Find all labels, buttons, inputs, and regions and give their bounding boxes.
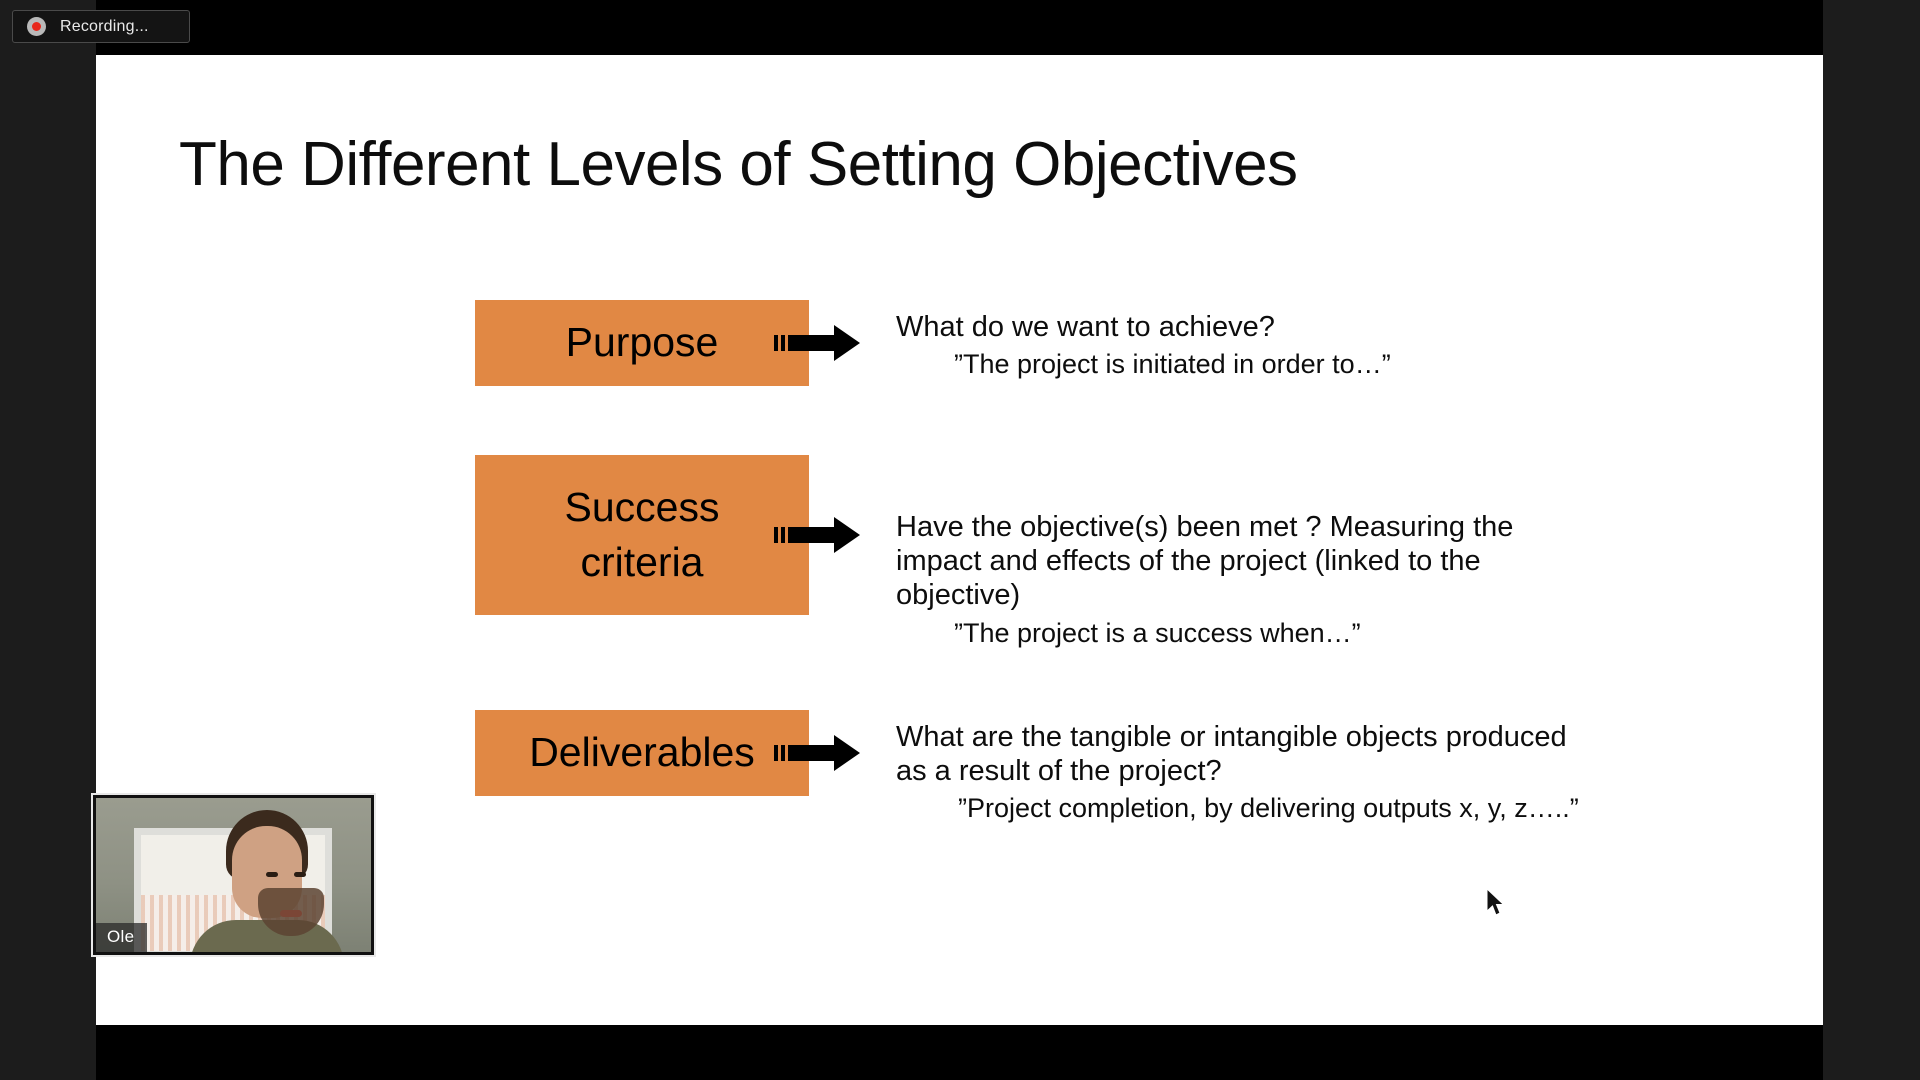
label-box-deliverables-text: Deliverables bbox=[529, 725, 755, 780]
description-success-criteria-quote: ”The project is a success when…” bbox=[896, 617, 1596, 649]
desktop-top-bar bbox=[0, 0, 1920, 55]
description-deliverables: What are the tangible or intangible obje… bbox=[896, 720, 1596, 825]
desktop-backdrop-right bbox=[1823, 0, 1920, 1080]
description-deliverables-main: What are the tangible or intangible obje… bbox=[896, 720, 1596, 788]
webcam-person bbox=[208, 810, 326, 955]
description-purpose-main: What do we want to achieve? bbox=[896, 310, 1596, 344]
description-success-criteria: Have the objective(s) been met ? Measuri… bbox=[896, 510, 1596, 649]
recording-label: Recording... bbox=[60, 18, 149, 36]
label-box-success-criteria: Success criteria bbox=[475, 455, 809, 615]
slide-title: The Different Levels of Setting Objectiv… bbox=[179, 132, 1298, 197]
block-arrow-right-icon bbox=[774, 733, 860, 773]
label-box-deliverables: Deliverables bbox=[475, 710, 809, 796]
webcam-video-tile[interactable]: Ole bbox=[93, 795, 374, 955]
webcam-person-eye-right bbox=[294, 872, 306, 877]
screen: Recording... The Different Levels of Set… bbox=[0, 0, 1920, 1080]
block-arrow-right-icon bbox=[774, 515, 860, 555]
block-arrow-right-icon bbox=[774, 323, 860, 363]
record-dot-icon bbox=[27, 17, 46, 36]
label-box-purpose: Purpose bbox=[475, 300, 809, 386]
label-box-purpose-text: Purpose bbox=[566, 315, 719, 370]
description-purpose-quote: ”The project is initiated in order to…” bbox=[896, 348, 1596, 380]
description-purpose: What do we want to achieve? ”The project… bbox=[896, 310, 1596, 381]
webcam-person-eye-left bbox=[266, 872, 278, 877]
label-box-success-criteria-text: Success criteria bbox=[565, 480, 720, 591]
recording-indicator[interactable]: Recording... bbox=[12, 10, 190, 43]
desktop-backdrop-left bbox=[0, 55, 96, 1080]
desktop-backdrop-bottom bbox=[96, 1025, 1823, 1080]
webcam-person-mouth bbox=[280, 910, 302, 917]
description-success-criteria-main: Have the objective(s) been met ? Measuri… bbox=[896, 510, 1596, 613]
description-deliverables-quote: ”Project completion, by delivering outpu… bbox=[896, 792, 1596, 824]
webcam-participant-name: Ole bbox=[96, 923, 147, 952]
webcam-person-face bbox=[232, 826, 302, 918]
